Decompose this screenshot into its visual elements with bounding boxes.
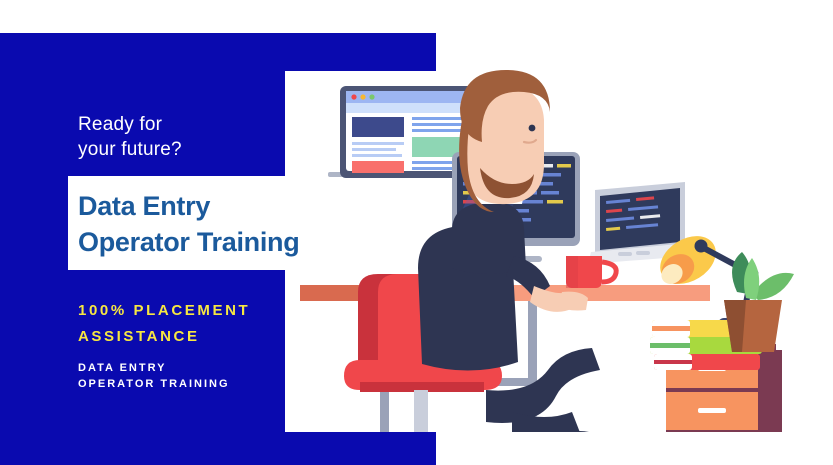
placement-text: 100% PLACEMENT ASSISTANCE [78,298,250,350]
blue-panel-bottom-band [0,432,436,465]
eyebrow-line-1: Ready for [78,112,182,137]
potted-plant [724,252,794,352]
illustration-workspace [300,60,820,432]
headline-text: Data Entry Operator Training [78,188,299,260]
eyebrow-line-2: your future? [78,137,182,162]
placement-line-2: ASSISTANCE [78,324,250,350]
coffee-mug [566,256,616,288]
headline-line-1: Data Entry [78,188,299,224]
eyebrow-text: Ready for your future? [78,112,182,162]
headline-line-2: Operator Training [78,224,299,260]
promotional-banner: Ready for your future? Data Entry Operat… [0,0,833,465]
subtitle-line-2: OPERATOR TRAINING [78,376,230,392]
subtitle-text: DATA ENTRY OPERATOR TRAINING [78,360,230,392]
subtitle-line-1: DATA ENTRY [78,360,230,376]
placement-line-1: 100% PLACEMENT [78,298,250,324]
